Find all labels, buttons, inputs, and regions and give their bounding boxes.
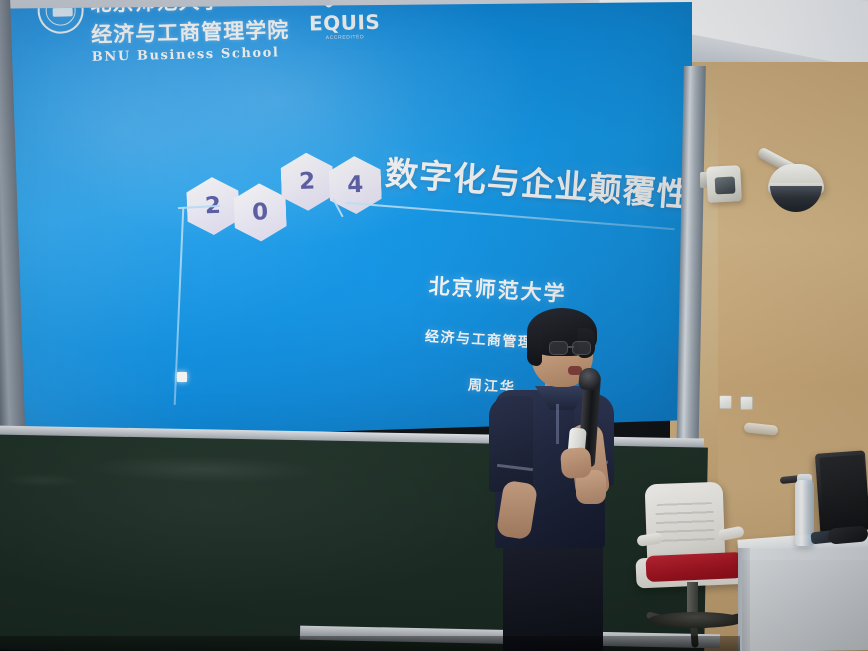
lecture-photo-scene: 北京师范大学 经济与工商管理学院 BNU Business School EFM… xyxy=(0,0,868,651)
year-digit: 4 xyxy=(347,172,364,199)
floor-shadow xyxy=(0,636,740,651)
speaker-shoulder xyxy=(489,396,533,492)
decorative-connector-node xyxy=(177,372,187,382)
school-name-cn: 经济与工商管理学院 xyxy=(91,14,290,49)
speaker-hair-side xyxy=(527,330,542,366)
microphone-head xyxy=(578,367,600,390)
office-chair-base xyxy=(648,612,744,628)
year-digit: 2 xyxy=(299,168,316,195)
year-digit: 0 xyxy=(252,199,269,226)
office-chair-cushion xyxy=(645,552,743,582)
glasses-bridge xyxy=(567,346,574,348)
bnu-logo-text: 北京师范大学 经济与工商管理学院 BNU Business School xyxy=(90,2,290,65)
bnu-logo: 北京师范大学 经济与工商管理学院 BNU Business School xyxy=(37,2,290,66)
speaker-shirt-placket xyxy=(556,404,559,444)
glasses-icon xyxy=(549,341,568,355)
equis-sublabel: ACCREDITED xyxy=(326,34,365,41)
affiliation-university: 北京师范大学 xyxy=(392,268,603,310)
light-switch[interactable] xyxy=(740,396,753,410)
chalk-smudge xyxy=(3,473,83,488)
year-hexagon: 2 xyxy=(280,152,334,212)
glasses-icon xyxy=(572,341,591,355)
light-switch[interactable] xyxy=(719,395,732,409)
slide-header: 北京师范大学 经济与工商管理学院 BNU Business School EFM… xyxy=(37,2,381,66)
speaker-legs xyxy=(503,540,603,651)
lectern-shading xyxy=(742,560,868,651)
equis-label: EQUIS xyxy=(309,12,381,34)
year-hexagon: 0 xyxy=(233,183,287,243)
box-camera xyxy=(706,165,742,203)
chalk-smudge xyxy=(86,454,316,484)
podium-monitor-screen xyxy=(819,455,868,536)
speaker-hand xyxy=(560,447,592,479)
accreditation-logo: EFMD EQUIS ACCREDITED xyxy=(308,2,381,42)
